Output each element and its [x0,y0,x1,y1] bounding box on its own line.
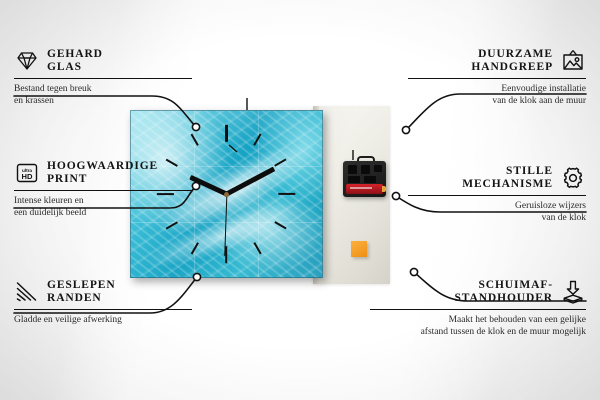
feature-desc: van de klok aan de muur [408,95,586,107]
feature-title: STILLE [462,165,553,178]
infographic-stage: GEHARD GLAS Bestand tegen breuk en krass… [0,0,600,400]
divider [408,78,586,79]
feature-gehard-glas[interactable]: GEHARD GLAS Bestand tegen breuk en krass… [14,48,192,107]
feature-title: DUURZAME [471,48,553,61]
divider [14,190,192,191]
feature-title: HANDGREEP [471,61,553,74]
feature-desc: een duidelijk beeld [14,207,192,219]
svg-text:HD: HD [22,172,33,181]
battery [346,184,383,194]
feature-desc: afstand tussen de klok en de muur mogeli… [370,326,586,338]
divider [14,78,192,79]
feature-title: RANDEN [47,292,116,305]
feature-title: GLAS [47,61,103,74]
feature-title: MECHANISME [462,178,553,191]
divider [370,309,586,310]
feature-title: GEHARD [47,48,103,61]
picture-frame-icon [560,48,586,74]
feature-desc: Geruisloze wijzers [408,200,586,212]
bevelled-edge-icon [14,279,40,305]
gear-icon [560,165,586,191]
feature-schuimafstandhouder[interactable]: SCHUIMAF- STANDHOUDER Maakt het behouden… [370,279,586,338]
feature-desc: van de klok [408,212,586,224]
feature-geslepen-randen[interactable]: GESLEPEN RANDEN Gladde en veilige afwerk… [14,279,192,326]
divider [14,309,192,310]
feature-title: HOOGWAARDIGE [47,160,158,173]
feature-hoogwaardige-print[interactable]: ultra HD HOOGWAARDIGE PRINT Intense kleu… [14,160,192,219]
clock-mechanism [343,161,386,197]
divider [408,195,586,196]
feature-desc: en krassen [14,95,192,107]
foam-spacer-icon [560,279,586,305]
feature-title: PRINT [47,173,158,186]
feature-title: SCHUIMAF- [454,279,553,292]
feature-desc: Gladde en veilige afwerking [14,314,192,326]
feature-stille-mechanisme[interactable]: STILLE MECHANISME Geruisloze wijzers van… [408,165,586,224]
feature-desc: Maakt het behouden van een gelijke [370,314,586,326]
feature-title: GESLEPEN [47,279,116,292]
feature-title: STANDHOUDER [454,292,553,305]
feature-desc: Eenvoudige installatie [408,83,586,95]
ultra-hd-icon: ultra HD [14,160,40,186]
feature-duurzame-handgreep[interactable]: DUURZAME HANDGREEP Eenvoudige installati… [408,48,586,107]
diamond-icon [14,48,40,74]
feature-desc: Bestand tegen breuk [14,83,192,95]
foam-spacer-pad [351,241,367,257]
feature-desc: Intense kleuren en [14,195,192,207]
